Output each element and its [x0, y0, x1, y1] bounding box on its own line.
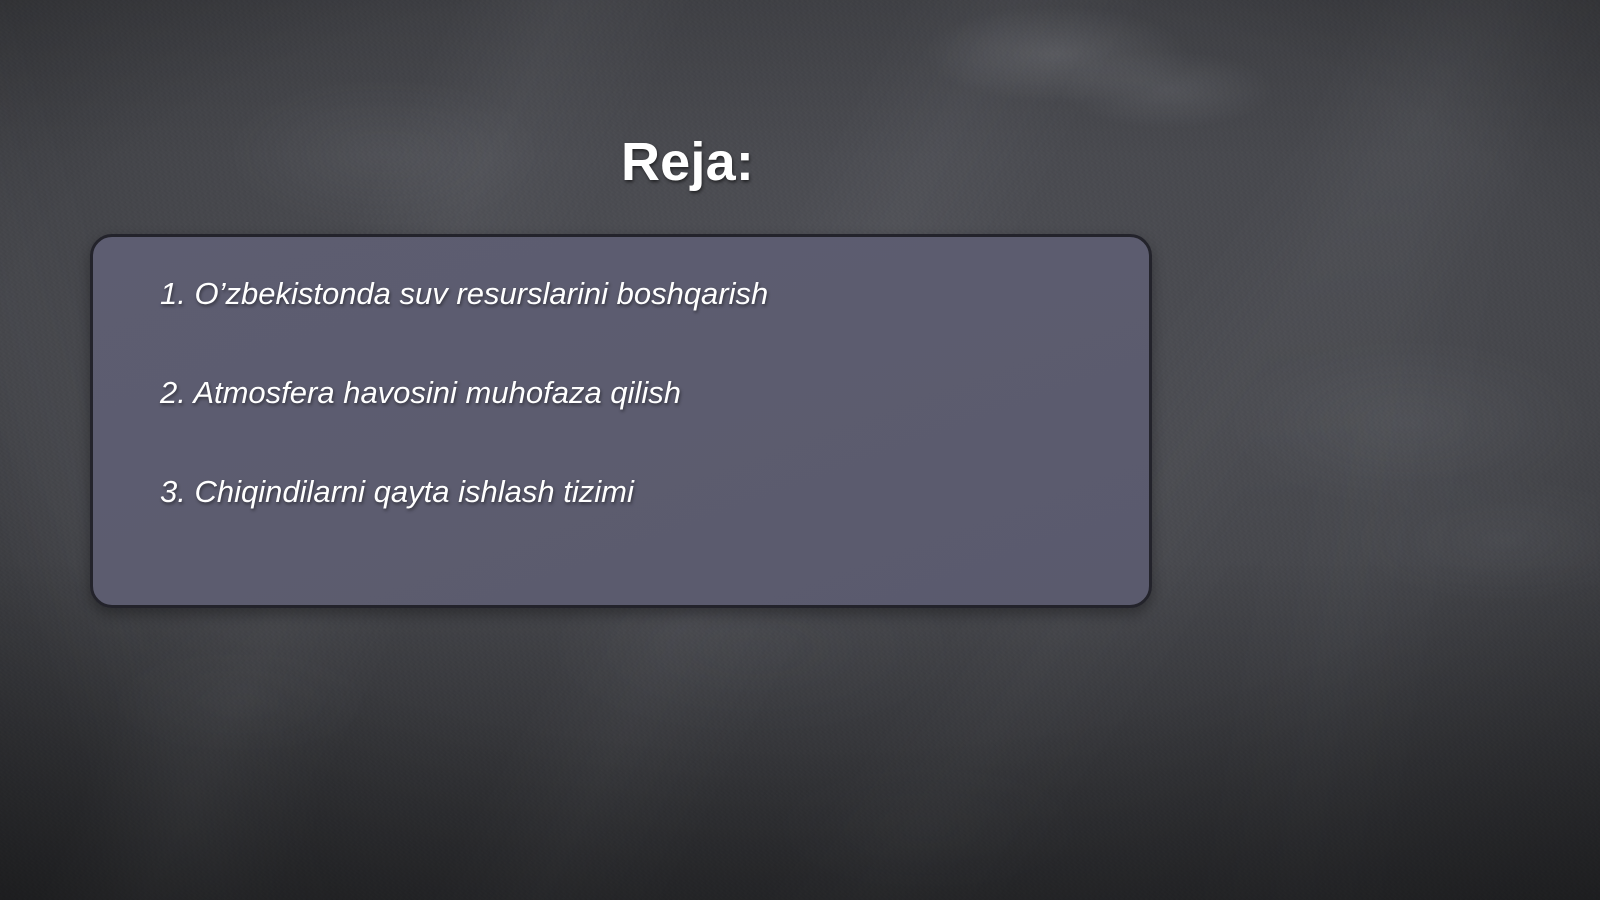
slide-title: Reja:: [0, 131, 1375, 193]
plan-card: 1. O’zbekistonda suv resurslarini boshqa…: [90, 234, 1152, 608]
plan-list: 1. O’zbekistonda suv resurslarini boshqa…: [160, 278, 1125, 507]
plan-list-item: 2. Atmosfera havosini muhofaza qilish: [160, 377, 1125, 408]
plan-list-item: 1. O’zbekistonda suv resurslarini boshqa…: [160, 278, 1125, 309]
presentation-slide: Reja: 1. O’zbekistonda suv resurslarini …: [0, 0, 1600, 900]
plan-list-item: 3. Chiqindilarni qayta ishlash tizimi: [160, 476, 1125, 507]
